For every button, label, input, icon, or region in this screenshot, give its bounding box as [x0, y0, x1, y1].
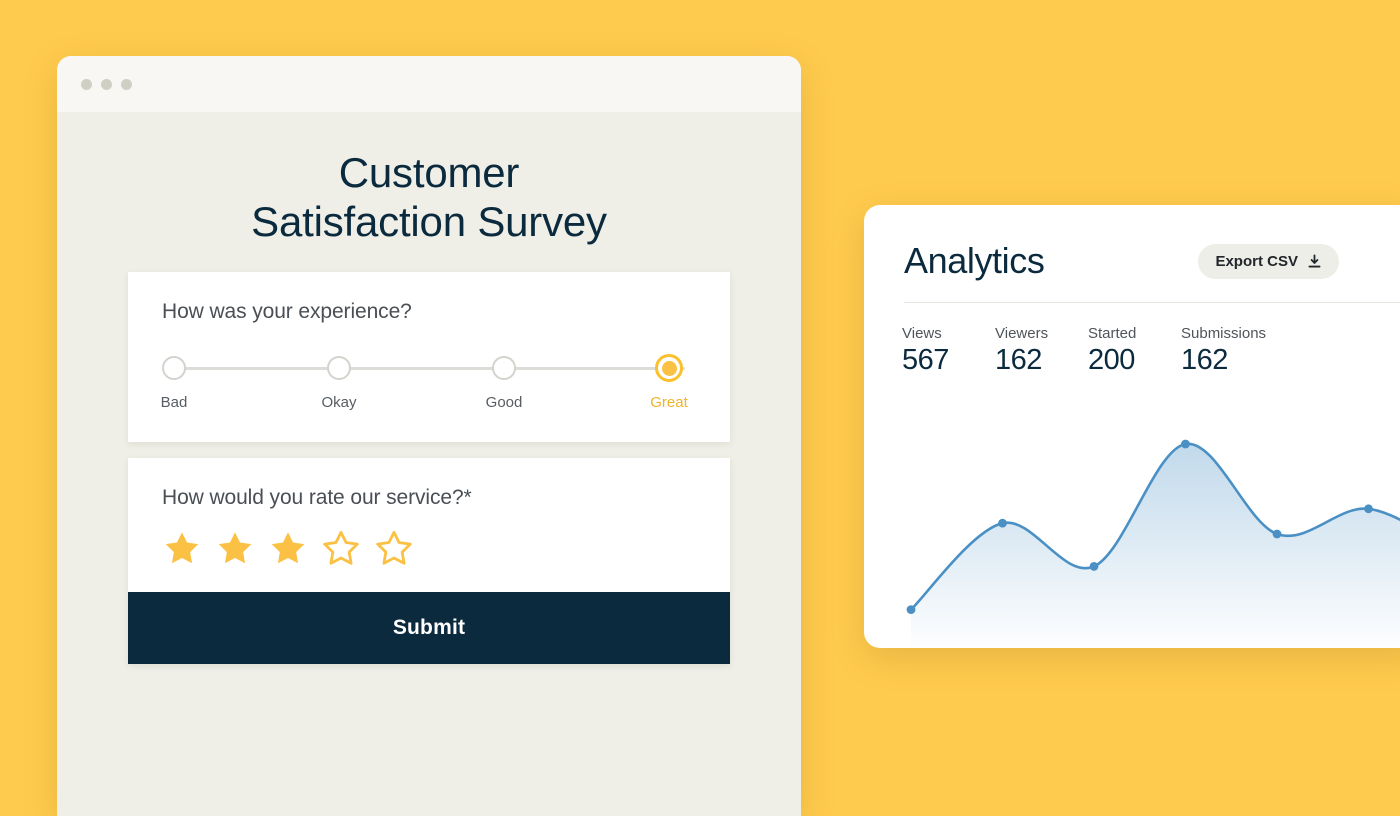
window-titlebar: [57, 56, 801, 112]
experience-slider[interactable]: [162, 346, 696, 392]
chart-point-4: [1273, 530, 1282, 539]
stat-value-submissions: 162: [1181, 344, 1274, 377]
star-icon-empty-4[interactable]: [321, 528, 361, 568]
download-icon: [1307, 254, 1322, 269]
stats-row: Views 567 Viewers 162 Started 200 Submis…: [864, 303, 1400, 377]
experience-question-card: How was your experience? Bad Okay Good G…: [128, 272, 730, 442]
slider-label-okay: Okay: [321, 394, 356, 411]
star-rating-input[interactable]: [162, 528, 696, 592]
analytics-title: Analytics: [904, 240, 1044, 282]
window-dot-maximize[interactable]: [121, 79, 132, 90]
analytics-card: Analytics Export CSV Views 567 Viewers 1…: [864, 205, 1400, 648]
window-dot-minimize[interactable]: [101, 79, 112, 90]
stat-value-started: 200: [1088, 344, 1181, 377]
export-csv-label: Export CSV: [1215, 253, 1298, 270]
stat-value-views: 567: [902, 344, 995, 377]
stat-label-views: Views: [902, 325, 995, 342]
star-icon-filled-3[interactable]: [268, 528, 308, 568]
submit-button[interactable]: Submit: [128, 592, 730, 664]
experience-question-label: How was your experience?: [162, 300, 696, 324]
slider-stop-great[interactable]: [655, 354, 683, 382]
star-icon-filled-1[interactable]: [162, 528, 202, 568]
analytics-header: Analytics Export CSV: [864, 205, 1400, 282]
slider-label-bad: Bad: [161, 394, 188, 411]
star-icon-filled-2[interactable]: [215, 528, 255, 568]
analytics-area-chart: [864, 418, 1400, 648]
stat-submissions: Submissions 162: [1181, 325, 1274, 377]
chart-point-5: [1364, 504, 1373, 513]
survey-body: Customer Satisfaction Survey How was you…: [57, 112, 801, 664]
rating-question-card: How would you rate our service?* Submit: [128, 458, 730, 664]
chart-point-1: [998, 519, 1007, 528]
slider-stop-okay[interactable]: [327, 356, 351, 380]
slider-stop-good[interactable]: [492, 356, 516, 380]
rating-question-label: How would you rate our service?*: [162, 486, 696, 510]
page-title-line-1: Customer: [339, 149, 519, 196]
slider-track: [173, 367, 685, 370]
stat-viewers: Viewers 162: [995, 325, 1088, 377]
slider-label-good: Good: [486, 394, 523, 411]
star-icon-empty-5[interactable]: [374, 528, 414, 568]
stat-label-started: Started: [1088, 325, 1181, 342]
stat-label-submissions: Submissions: [1181, 325, 1274, 342]
chart-point-0: [907, 605, 916, 614]
slider-label-great: Great: [650, 394, 688, 411]
slider-labels: Bad Okay Good Great: [162, 394, 696, 416]
chart-point-2: [1090, 562, 1099, 571]
stat-views: Views 567: [902, 325, 995, 377]
chart-point-3: [1181, 440, 1190, 449]
export-csv-button[interactable]: Export CSV: [1198, 244, 1339, 279]
stat-value-viewers: 162: [995, 344, 1088, 377]
page-title: Customer Satisfaction Survey: [128, 112, 730, 272]
window-dot-close[interactable]: [81, 79, 92, 90]
chart-svg: [864, 418, 1400, 648]
slider-stop-bad[interactable]: [162, 356, 186, 380]
stat-label-viewers: Viewers: [995, 325, 1088, 342]
page-title-line-2: Satisfaction Survey: [128, 197, 730, 246]
stat-started: Started 200: [1088, 325, 1181, 377]
survey-browser-window: Customer Satisfaction Survey How was you…: [57, 56, 801, 816]
